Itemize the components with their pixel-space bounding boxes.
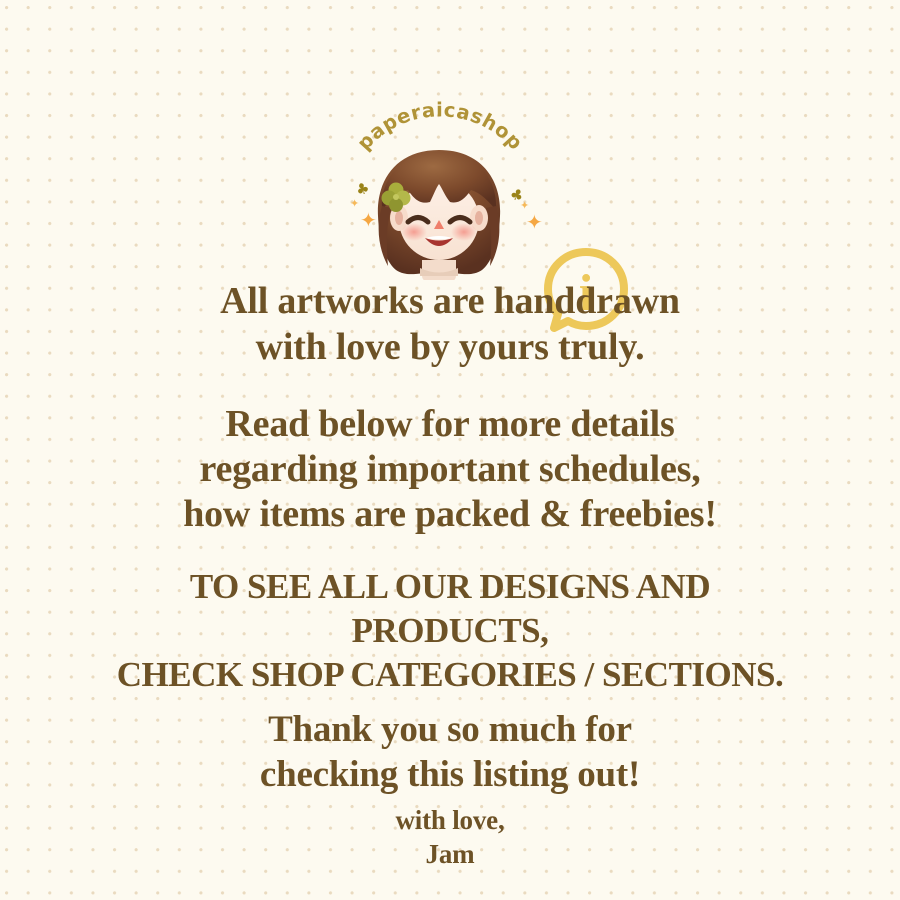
paragraph-handdrawn: All artworks are handdrawn with love by … xyxy=(0,278,900,370)
text-line: how items are packed & freebies! xyxy=(0,492,900,537)
text-line: Read below for more details xyxy=(0,402,900,447)
card-body: All artworks are handdrawn with love by … xyxy=(0,278,900,871)
paragraph-shop-categories: TO SEE ALL OUR DESIGNS AND PRODUCTS, CHE… xyxy=(0,565,900,697)
info-card: paperaicashop ♣ ♣ ✦ ✦ ✦ ✦ xyxy=(0,0,900,900)
card-header: paperaicashop ♣ ♣ ✦ ✦ ✦ ✦ xyxy=(0,112,900,280)
text-line: with love by yours truly. xyxy=(0,324,900,370)
text-line: Thank you so much for xyxy=(0,707,900,752)
text-line: TO SEE ALL OUR DESIGNS AND xyxy=(0,565,900,609)
signature-name: Jam xyxy=(0,837,900,871)
text-line: CHECK SHOP CATEGORIES / SECTIONS. xyxy=(0,653,900,697)
avatar xyxy=(360,144,518,280)
text-line: regarding important schedules, xyxy=(0,447,900,492)
signature: with love, Jam xyxy=(0,803,900,871)
paragraph-read-below: Read below for more details regarding im… xyxy=(0,402,900,537)
shop-logo: paperaicashop ♣ ♣ ✦ ✦ ✦ ✦ xyxy=(344,112,534,280)
paragraph-thank-you: Thank you so much for checking this list… xyxy=(0,707,900,797)
sparkle-icon: ✦ xyxy=(350,198,359,209)
text-line: checking this listing out! xyxy=(0,752,900,797)
text-line: All artworks are handdrawn xyxy=(0,278,900,324)
signature-line: with love, xyxy=(0,803,900,837)
sparkle-icon: ✦ xyxy=(526,212,543,232)
text-line: PRODUCTS, xyxy=(0,609,900,653)
